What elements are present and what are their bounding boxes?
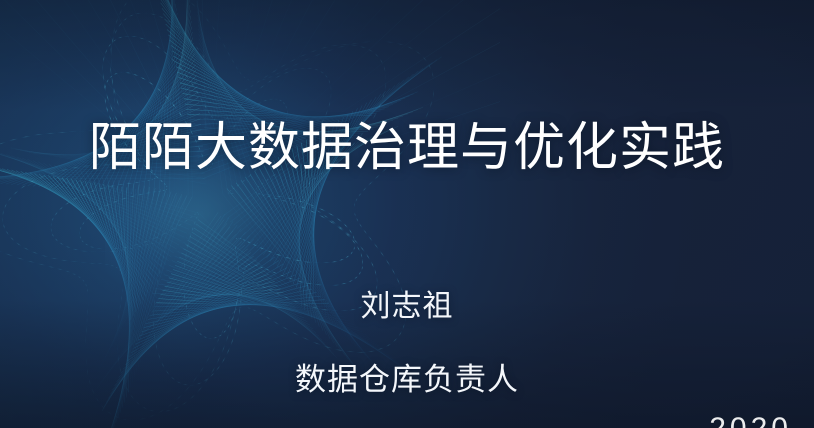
presentation-title-slide: 陌陌大数据治理与优化实践 刘志祖 数据仓库负责人 2020 — [0, 0, 814, 428]
slide-title: 陌陌大数据治理与优化实践 — [0, 118, 814, 178]
speaker-name: 刘志祖 — [0, 288, 814, 326]
slide-year-footer: 2020 — [0, 411, 792, 428]
speaker-role: 数据仓库负责人 — [0, 360, 814, 400]
